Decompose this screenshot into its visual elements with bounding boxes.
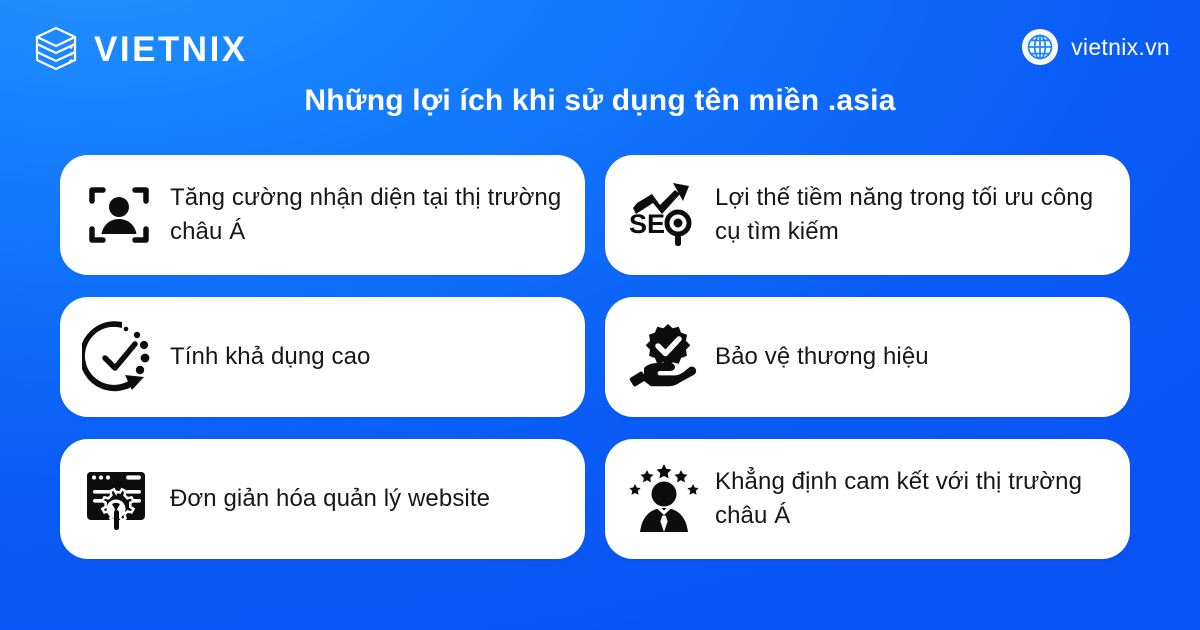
browser-gear-wrench-icon: [82, 462, 156, 536]
page-title: Những lợi ích khi sử dụng tên miền .asia: [0, 84, 1200, 118]
person-scan-frame-icon: [82, 178, 156, 252]
page-header: VIETNIX vietnix.vn: [0, 0, 1200, 90]
brand-name: VIETNIX: [94, 29, 248, 67]
benefit-card-4-text: Bảo vệ thương hiệu: [715, 340, 929, 374]
benefit-card-6-text: Khẳng định cam kết với thị trường châu Á: [715, 465, 1108, 533]
seo-growth-magnifier-icon: SE: [627, 178, 701, 252]
benefit-card-5[interactable]: Đơn giản hóa quản lý website: [60, 439, 585, 559]
benefit-card-1-text: Tăng cường nhận diện tại thị trường châu…: [170, 181, 563, 249]
benefit-card-5-text: Đơn giản hóa quản lý website: [170, 482, 490, 516]
benefit-card-1[interactable]: Tăng cường nhận diện tại thị trường châu…: [60, 155, 585, 275]
globe-icon: [1021, 28, 1059, 66]
benefits-grid: Tăng cường nhận diện tại thị trường châu…: [60, 155, 1130, 559]
businessman-stars-icon: [627, 462, 701, 536]
benefit-card-6[interactable]: Khẳng định cam kết với thị trường châu Á: [605, 439, 1130, 559]
svg-text:SE: SE: [629, 209, 665, 239]
site-url-text: vietnix.vn: [1071, 36, 1170, 59]
brand-logo[interactable]: VIETNIX: [30, 22, 248, 74]
hand-holding-verified-badge-icon: [627, 320, 701, 394]
benefit-card-3[interactable]: Tính khả dụng cao: [60, 297, 585, 417]
circular-arrow-check-icon: [82, 320, 156, 394]
site-url-badge[interactable]: vietnix.vn: [1021, 22, 1170, 66]
benefit-card-2-text: Lợi thế tiềm năng trong tối ưu công cụ t…: [715, 181, 1108, 249]
benefit-card-3-text: Tính khả dụng cao: [170, 340, 371, 374]
benefit-card-2[interactable]: SE Lợi thế tiềm năng trong tối ưu công c…: [605, 155, 1130, 275]
stacked-layers-icon: [30, 22, 82, 74]
benefit-card-4[interactable]: Bảo vệ thương hiệu: [605, 297, 1130, 417]
